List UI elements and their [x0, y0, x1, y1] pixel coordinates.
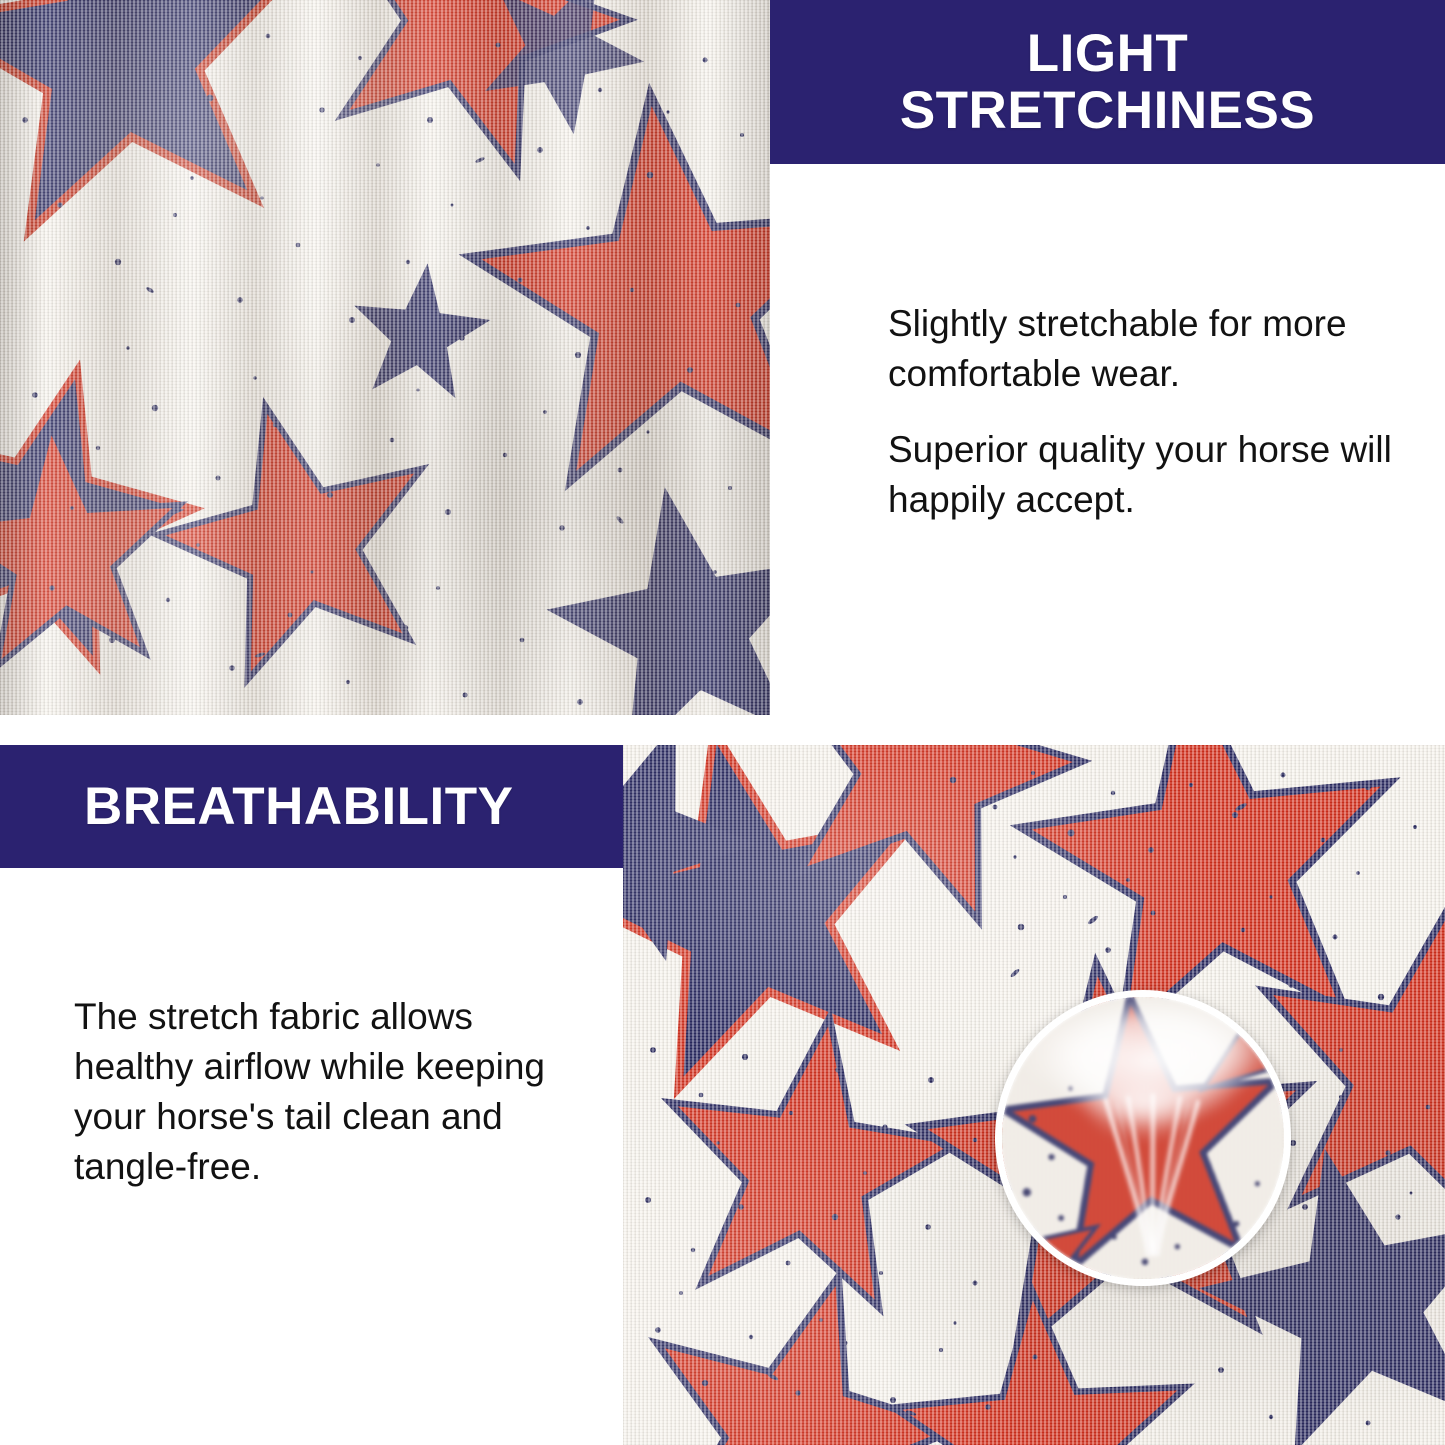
- magnifier-blur-overlay: [1002, 997, 1284, 1279]
- speckle-pattern-top: [0, 0, 770, 715]
- fabric-base: [0, 0, 770, 715]
- breathability-magnifier-circle: [995, 990, 1291, 1286]
- product-feature-infographic: LIGHT STRETCHINESS Slightly stretchable …: [0, 0, 1445, 1445]
- body-breathability: The stretch fabric allows healthy airflo…: [0, 868, 623, 1445]
- banner-light-stretchiness: LIGHT STRETCHINESS: [770, 0, 1445, 164]
- section-light-stretchiness: LIGHT STRETCHINESS Slightly stretchable …: [0, 0, 1445, 715]
- magnifier-content: [1002, 997, 1284, 1279]
- banner-breathability: BREATHABILITY: [0, 745, 623, 868]
- section-divider: [0, 715, 1445, 745]
- banner-line-1: LIGHT: [1027, 24, 1188, 83]
- photo-star-print-fabric-draped-folds: [0, 0, 770, 715]
- banner-line-2: STRETCHINESS: [900, 81, 1315, 140]
- body-light-stretchiness: Slightly stretchable for more comfortabl…: [770, 164, 1445, 715]
- stretchiness-paragraph-2: Superior quality your horse will happily…: [888, 425, 1405, 525]
- section-breathability: BREATHABILITY The stretch fabric allows …: [0, 745, 1445, 1445]
- stretchiness-paragraph-1: Slightly stretchable for more comfortabl…: [888, 299, 1405, 399]
- photo-star-print-fabric-airflow-closeup: [623, 745, 1445, 1445]
- banner-light-stretchiness-text: LIGHT STRETCHINESS: [900, 25, 1315, 139]
- breathability-paragraph-1: The stretch fabric allows healthy airflo…: [74, 992, 593, 1192]
- fabric-base-bottom: [623, 745, 1445, 1445]
- banner-breathability-text: BREATHABILITY: [84, 776, 514, 837]
